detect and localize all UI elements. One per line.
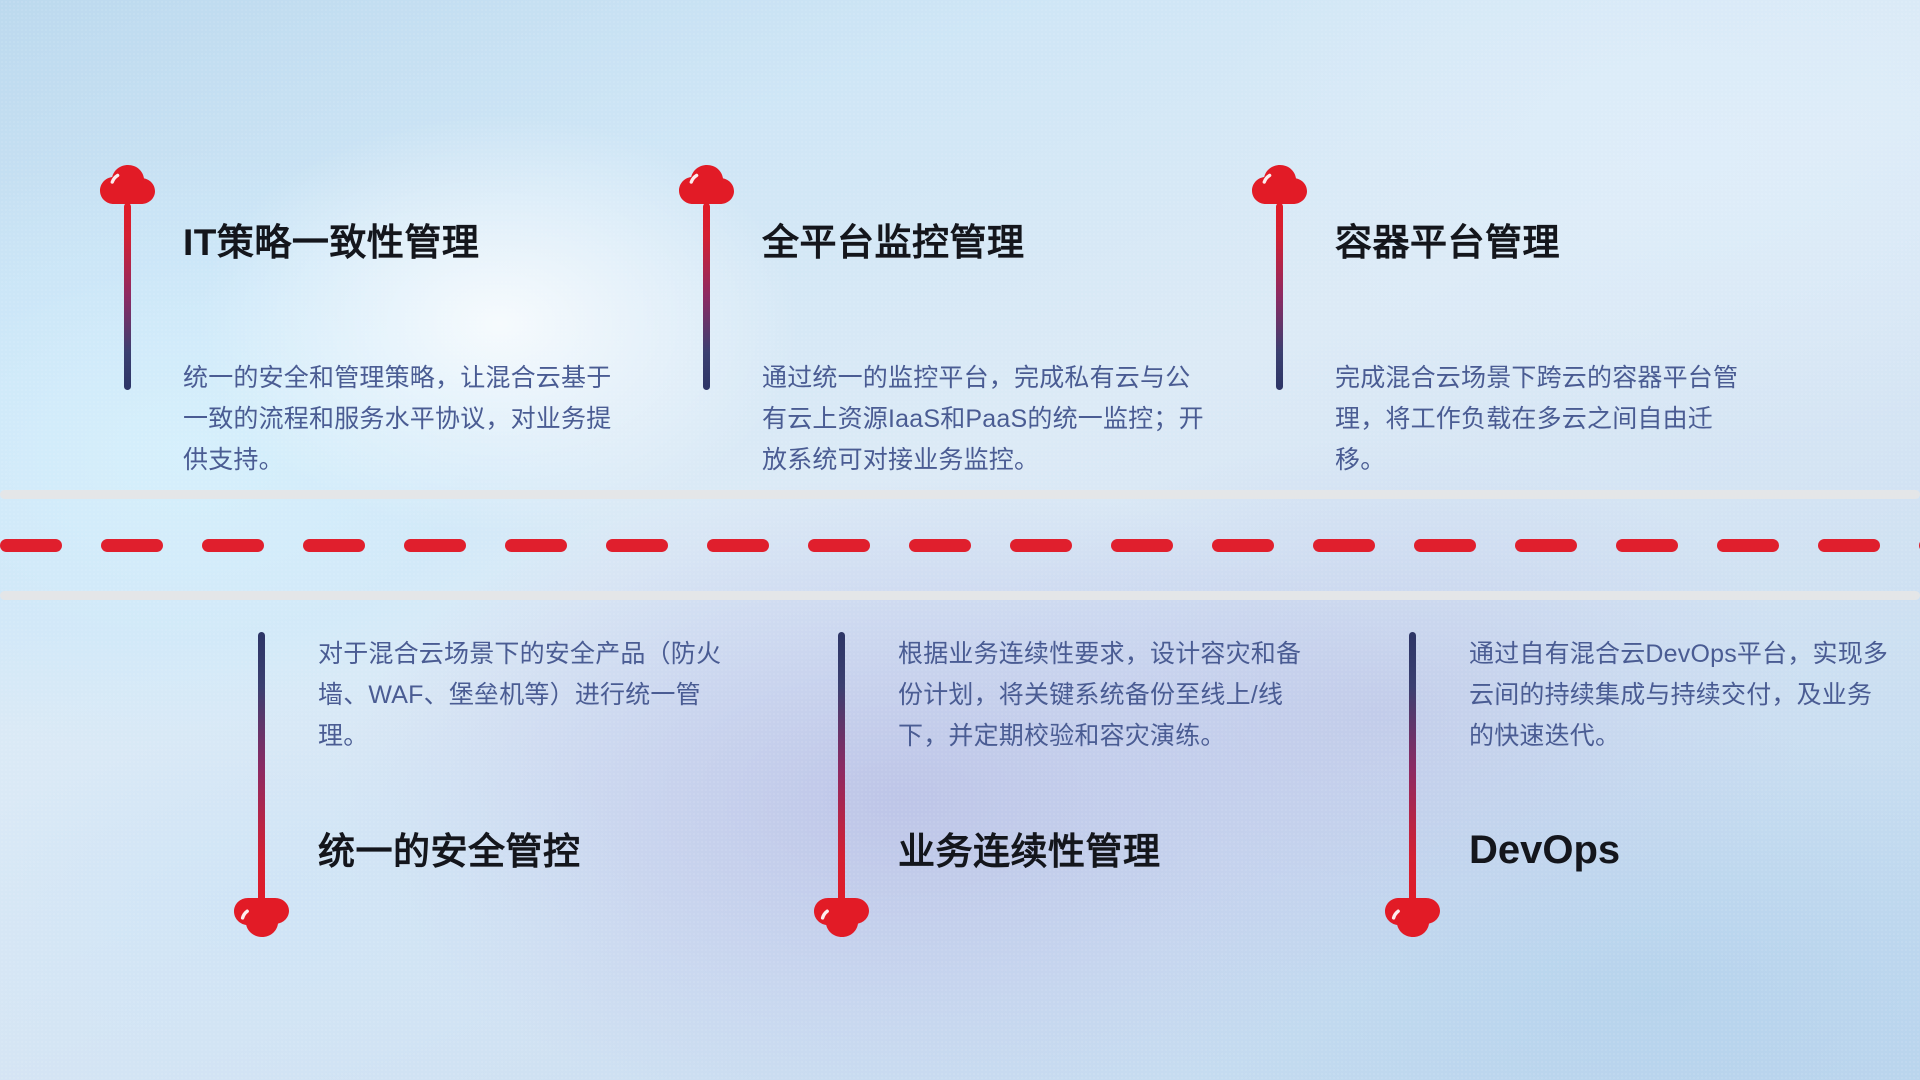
cloud-icon xyxy=(1382,895,1444,939)
cloud-icon xyxy=(676,163,738,207)
cloud-icon xyxy=(811,895,873,939)
divider-dash xyxy=(1818,539,1880,552)
divider-rail-bottom xyxy=(0,591,1920,600)
divider-dash xyxy=(1010,539,1072,552)
connector-line xyxy=(703,203,710,390)
top-heading-3: 容器平台管理 xyxy=(1335,224,1560,261)
divider-dash xyxy=(1212,539,1274,552)
bottom-body-2: 根据业务连续性要求，设计容灾和备份计划，将关键系统备份至线上/线下，并定期校验和… xyxy=(898,634,1318,757)
connector-line xyxy=(258,632,265,906)
cloud-icon xyxy=(231,895,293,939)
divider-dash xyxy=(1616,539,1678,552)
divider-dash xyxy=(606,539,668,552)
top-heading-2: 全平台监控管理 xyxy=(762,224,1025,261)
divider-dash xyxy=(1313,539,1375,552)
connector-line xyxy=(1409,632,1416,906)
divider-dash xyxy=(909,539,971,552)
connector-line xyxy=(838,632,845,906)
divider-dash xyxy=(808,539,870,552)
divider-dash xyxy=(1717,539,1779,552)
divider-dash xyxy=(0,539,62,552)
divider-dash xyxy=(505,539,567,552)
divider-dash xyxy=(707,539,769,552)
bottom-heading-3: DevOps xyxy=(1469,830,1620,870)
divider-rail-top xyxy=(0,490,1920,499)
top-heading-1: IT策略一致性管理 xyxy=(183,224,479,261)
divider-dash xyxy=(1414,539,1476,552)
top-body-1: 统一的安全和管理策略，让混合云基于一致的流程和服务水平协议，对业务提供支持。 xyxy=(183,358,615,481)
top-body-3: 完成混合云场景下跨云的容器平台管理，将工作负载在多云之间自由迁移。 xyxy=(1335,358,1755,481)
divider-dash xyxy=(101,539,163,552)
bottom-heading-1: 统一的安全管控 xyxy=(318,833,581,870)
bottom-body-3: 通过自有混合云DevOps平台，实现多云间的持续集成与持续交付，及业务的快速迭代… xyxy=(1469,634,1889,757)
divider-dash xyxy=(404,539,466,552)
cloud-icon xyxy=(97,163,159,207)
bottom-body-1: 对于混合云场景下的安全产品（防火墙、WAF、堡垒机等）进行统一管理。 xyxy=(318,634,738,757)
bottom-heading-2: 业务连续性管理 xyxy=(898,833,1161,870)
road-divider xyxy=(0,490,1920,600)
connector-line xyxy=(1276,203,1283,390)
cloud-icon xyxy=(1249,163,1311,207)
divider-dash xyxy=(1111,539,1173,552)
divider-dashed-line xyxy=(0,539,1920,552)
connector-line xyxy=(124,203,131,390)
divider-dash xyxy=(1515,539,1577,552)
top-body-2: 通过统一的监控平台，完成私有云与公有云上资源IaaS和PaaS的统一监控；开放系… xyxy=(762,358,1206,481)
divider-dash xyxy=(202,539,264,552)
infographic-stage: IT策略一致性管理 统一的安全和管理策略，让混合云基于一致的流程和服务水平协议，… xyxy=(0,0,1920,1080)
divider-dash xyxy=(303,539,365,552)
